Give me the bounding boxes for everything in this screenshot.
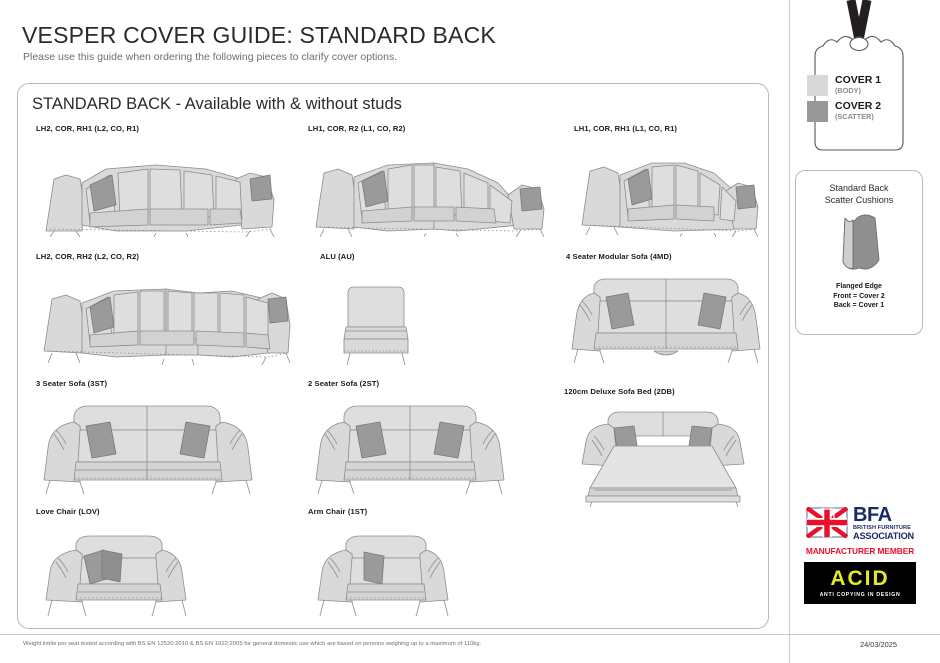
- sofa-3-seater-illustration: [36, 394, 276, 494]
- love-chair-illustration: [36, 528, 216, 616]
- corner-sofa-wide-illustration: [36, 267, 308, 365]
- accreditation-logos: BFA BRITISH FURNITURE ASSOCIATION MANUFA…: [795, 505, 925, 604]
- manufacturer-member-text: MANUFACTURER MEMBER: [795, 546, 925, 556]
- product-label: 120cm Deluxe Sofa Bed (2DB): [564, 387, 769, 396]
- cover-legend-row: COVER 1 (BODY): [807, 74, 917, 96]
- cover-legend-row: COVER 2 (SCATTER): [807, 100, 917, 122]
- cover-1-name: COVER 1: [835, 74, 881, 86]
- product-label: LH2, COR, RH2 (L2, CO, R2): [36, 252, 308, 261]
- product-cell-lh2-cor-rh1[interactable]: LH2, COR, RH1 (L2, CO, R1): [36, 124, 296, 237]
- product-label: ALU (AU): [320, 252, 420, 261]
- panel-title: STANDARD BACK - Available with & without…: [32, 95, 402, 114]
- product-cell-lh1-cor-r2[interactable]: LH1, COR, R2 (L1, CO, R2): [308, 124, 558, 237]
- product-cell-2st[interactable]: 2 Seater Sofa (2ST): [308, 379, 523, 494]
- cover-2-note: (SCATTER): [835, 112, 881, 121]
- scatter-cushion-legend: Flanged Edge Front = Cover 2 Back = Cove…: [796, 282, 922, 311]
- product-row: 3 Seater Sofa (3ST): [26, 379, 762, 507]
- cover-2-swatch: [807, 101, 828, 122]
- product-cell-3st[interactable]: 3 Seater Sofa (3ST): [36, 379, 276, 494]
- arm-chair-illustration: [308, 528, 478, 616]
- product-cell-alu[interactable]: ALU (AU): [320, 252, 420, 365]
- acid-logo: ACID ANTI COPYING IN DESIGN: [804, 562, 916, 604]
- bfa-initials: BFA: [853, 505, 914, 525]
- scatter-cushion-title: Standard Back Scatter Cushions: [796, 182, 922, 206]
- product-row: LH2, COR, RH2 (L2, CO, R2): [26, 252, 762, 379]
- corner-sofa-left-illustration: [36, 139, 296, 237]
- corner-sofa-curved-illustration: [574, 139, 764, 237]
- product-cell-4md[interactable]: 4 Seater Modular Sofa (4MD): [566, 252, 766, 365]
- sofa-bed-illustration: [564, 402, 769, 507]
- product-label: 4 Seater Modular Sofa (4MD): [566, 252, 766, 261]
- acid-tagline: ANTI COPYING IN DESIGN: [820, 592, 901, 598]
- scatter-cushion-title-line2: Scatter Cushions: [796, 194, 922, 206]
- bfa-wordmark: BFA BRITISH FURNITURE ASSOCIATION: [853, 505, 914, 541]
- bfa-logo: BFA BRITISH FURNITURE ASSOCIATION: [795, 505, 925, 541]
- product-label: Love Chair (LOV): [36, 507, 216, 516]
- product-label: 3 Seater Sofa (3ST): [36, 379, 276, 388]
- legend-line-1: Flanged Edge: [796, 282, 922, 292]
- product-row: Love Chair (LOV): [26, 507, 762, 622]
- legend-line-2: Front = Cover 2: [796, 292, 922, 302]
- product-cell-lh1-cor-rh1[interactable]: LH1, COR, RH1 (L1, CO, R1): [574, 124, 764, 237]
- standard-back-panel: STANDARD BACK - Available with & without…: [17, 83, 769, 629]
- product-cell-1st[interactable]: Arm Chair (1ST): [308, 507, 478, 616]
- acid-wordmark: ACID: [830, 568, 889, 590]
- armless-unit-illustration: [340, 283, 420, 365]
- page-title: VESPER COVER GUIDE: STANDARD BACK: [22, 22, 496, 49]
- cover-1-note: (BODY): [835, 86, 881, 95]
- product-grid: LH2, COR, RH1 (L2, CO, R1): [26, 124, 762, 622]
- footer-divider: [0, 634, 940, 635]
- product-label: LH2, COR, RH1 (L2, CO, R1): [36, 124, 296, 133]
- union-jack-icon: [806, 507, 848, 538]
- cover-legend-tag: COVER 1 (BODY) COVER 2 (SCATTER): [795, 0, 925, 158]
- footer-weight-note: Weight limits per seat tested according …: [23, 641, 481, 647]
- product-row: LH2, COR, RH1 (L2, CO, R1): [26, 124, 762, 252]
- product-label: LH1, COR, RH1 (L1, CO, R1): [574, 124, 764, 133]
- corner-sofa-right-illustration: [308, 139, 558, 237]
- product-cell-lov[interactable]: Love Chair (LOV): [36, 507, 216, 616]
- scatter-cushion-illustration: [796, 210, 922, 276]
- cover-guide-page: VESPER COVER GUIDE: STANDARD BACK Please…: [0, 0, 940, 663]
- page-subtitle: Please use this guide when ordering the …: [23, 51, 397, 63]
- cover-2-name: COVER 2: [835, 100, 881, 112]
- legend-line-3: Back = Cover 1: [796, 301, 922, 311]
- cover-legend-rows: COVER 1 (BODY) COVER 2 (SCATTER): [807, 74, 917, 126]
- product-label: LH1, COR, R2 (L1, CO, R2): [308, 124, 558, 133]
- bfa-line-2: ASSOCIATION: [853, 532, 914, 541]
- scatter-cushion-title-line1: Standard Back: [796, 182, 922, 194]
- scatter-cushion-box: Standard Back Scatter Cushions Flanged E…: [795, 170, 923, 335]
- rail-divider: [789, 0, 790, 663]
- product-label: 2 Seater Sofa (2ST): [308, 379, 523, 388]
- product-label: Arm Chair (1ST): [308, 507, 478, 516]
- sofa-4-seater-illustration: [566, 267, 766, 365]
- footer-date: 24/03/2025: [860, 640, 897, 649]
- cover-1-swatch: [807, 75, 828, 96]
- product-cell-2db[interactable]: 120cm Deluxe Sofa Bed (2DB): [564, 379, 769, 507]
- sofa-2-seater-illustration: [308, 394, 523, 494]
- product-cell-lh2-cor-rh2[interactable]: LH2, COR, RH2 (L2, CO, R2): [36, 252, 308, 365]
